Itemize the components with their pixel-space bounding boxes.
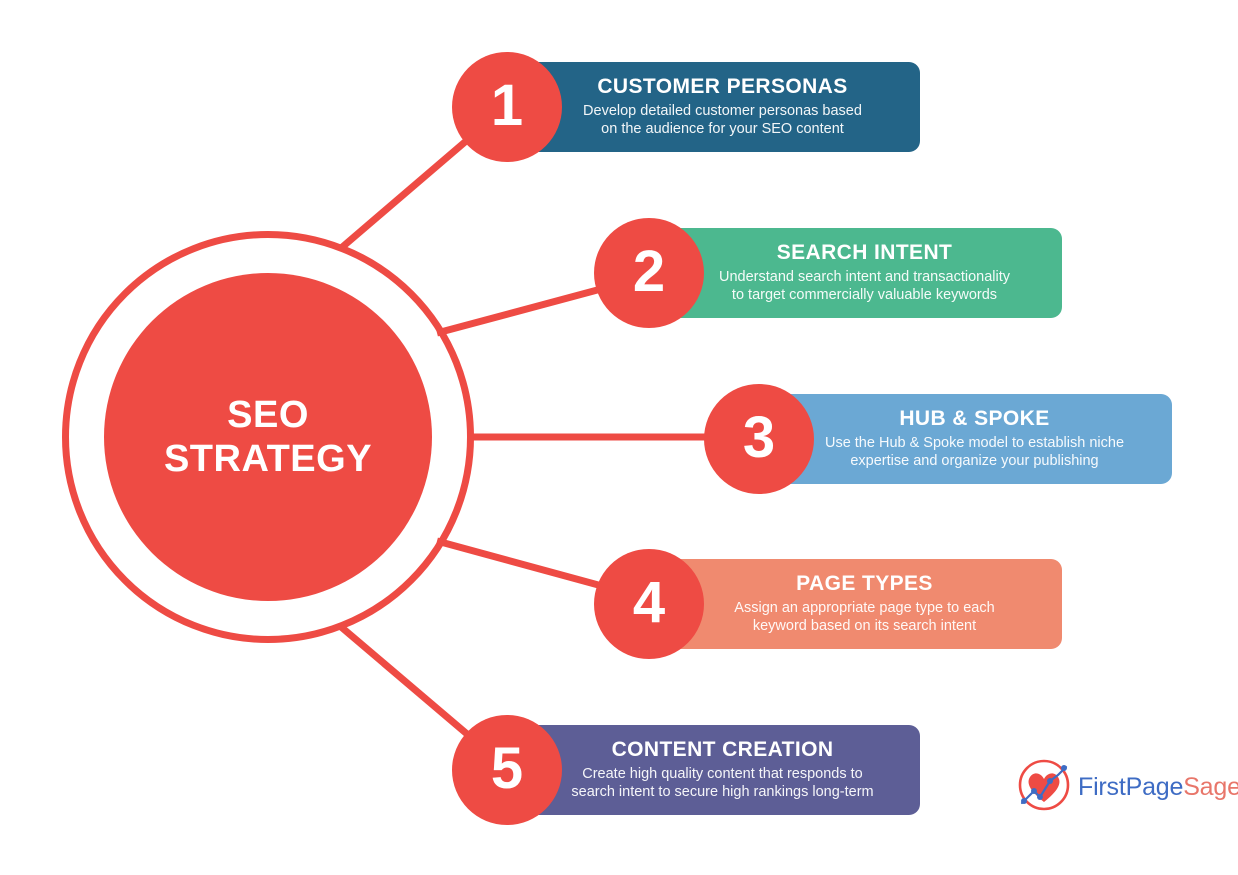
firstpagesage-mark-icon [1016, 757, 1072, 818]
step-4[interactable]: PAGE TYPES Assign an appropriate page ty… [594, 559, 1062, 649]
step-1-bar: CUSTOMER PERSONAS Develop detailed custo… [525, 62, 920, 152]
step-5-number-badge[interactable]: 5 [452, 715, 562, 825]
step-2-bar: SEARCH INTENT Understand search intent a… [667, 228, 1062, 318]
logo-wordmark: FirstPageSage [1078, 773, 1238, 802]
step-1-number: 1 [491, 77, 523, 135]
step-3[interactable]: HUB & SPOKE Use the Hub & Spoke model to… [704, 394, 1172, 484]
step-1[interactable]: CUSTOMER PERSONAS Develop detailed custo… [452, 62, 920, 152]
hub-core-circle: SEO STRATEGY [104, 273, 432, 601]
step-2-description: Understand search intent and transaction… [719, 268, 1010, 305]
step-2-title: SEARCH INTENT [777, 241, 953, 264]
logo-text-firstpage: FirstPage [1078, 773, 1183, 801]
step-3-bar: HUB & SPOKE Use the Hub & Spoke model to… [777, 394, 1172, 484]
step-3-title: HUB & SPOKE [899, 407, 1049, 430]
step-4-bar: PAGE TYPES Assign an appropriate page ty… [667, 559, 1062, 649]
step-5-number: 5 [491, 740, 523, 798]
step-4-number-badge[interactable]: 4 [594, 549, 704, 659]
step-5-bar: CONTENT CREATION Create high quality con… [525, 725, 920, 815]
step-1-number-badge[interactable]: 1 [452, 52, 562, 162]
step-2[interactable]: SEARCH INTENT Understand search intent a… [594, 228, 1062, 318]
hub-title: SEO STRATEGY [164, 393, 372, 481]
step-3-number-badge[interactable]: 3 [704, 384, 814, 494]
step-2-number: 2 [633, 243, 665, 301]
step-2-number-badge[interactable]: 2 [594, 218, 704, 328]
step-5-description: Create high quality content that respond… [571, 765, 873, 802]
brand-logo[interactable]: FirstPageSage [1016, 757, 1238, 818]
logo-text-sage: Sage [1183, 773, 1238, 801]
step-4-title: PAGE TYPES [796, 572, 933, 595]
step-1-description: Develop detailed customer personas based… [583, 102, 862, 139]
step-3-description: Use the Hub & Spoke model to establish n… [825, 434, 1124, 471]
step-3-number: 3 [743, 409, 775, 467]
step-4-number: 4 [633, 574, 665, 632]
step-1-title: CUSTOMER PERSONAS [597, 75, 847, 98]
infographic-canvas: SEO STRATEGY CUSTOMER PERSONAS Develop d… [0, 0, 1238, 875]
step-4-description: Assign an appropriate page type to each … [734, 599, 994, 636]
step-5[interactable]: CONTENT CREATION Create high quality con… [452, 725, 920, 815]
step-5-title: CONTENT CREATION [612, 738, 834, 761]
